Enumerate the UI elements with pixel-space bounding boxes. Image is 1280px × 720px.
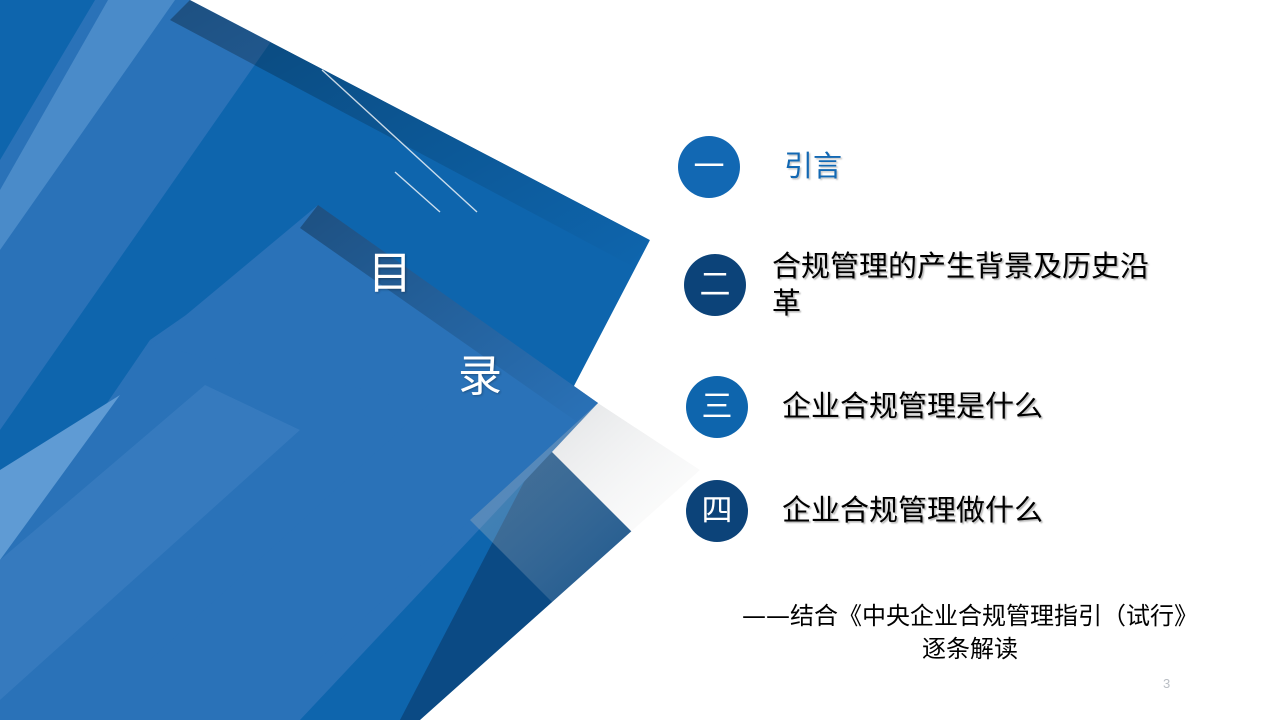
agenda-item-1-label: 引言	[784, 148, 1260, 185]
numeral-two-icon: 二	[684, 254, 746, 316]
agenda-item-2-label: 合规管理的产生背景及历史沿革	[772, 248, 1162, 322]
agenda-item-2[interactable]: 二 合规管理的产生背景及历史沿革	[660, 248, 1260, 322]
agenda-item-3[interactable]: 三 企业合规管理是什么	[660, 376, 1260, 438]
numeral-three-icon: 三	[686, 376, 748, 438]
numeral-four-icon: 四	[686, 480, 748, 542]
page-number: 3	[1163, 676, 1170, 691]
chevron-decoration	[0, 0, 700, 720]
chevron-decoration-svg	[0, 0, 700, 720]
toc-title-glyph-lu: 录	[458, 355, 502, 399]
numeral-one-icon: 一	[678, 136, 740, 198]
agenda-item-1[interactable]: 一 引言	[660, 136, 1260, 198]
agenda-item-3-label: 企业合规管理是什么	[782, 388, 1260, 425]
toc-title-glyph-mu: 目	[368, 252, 412, 296]
footnote-text: ——结合《中央企业合规管理指引（试行》 逐条解读	[690, 600, 1250, 666]
agenda-item-4-label: 企业合规管理做什么	[782, 492, 1260, 529]
agenda-item-4[interactable]: 四 企业合规管理做什么	[660, 480, 1260, 542]
presentation-slide: 目 录 一 引言 二 合规管理的产生背景及历史沿革 三 企业合规管理是什么 四 …	[0, 0, 1280, 720]
